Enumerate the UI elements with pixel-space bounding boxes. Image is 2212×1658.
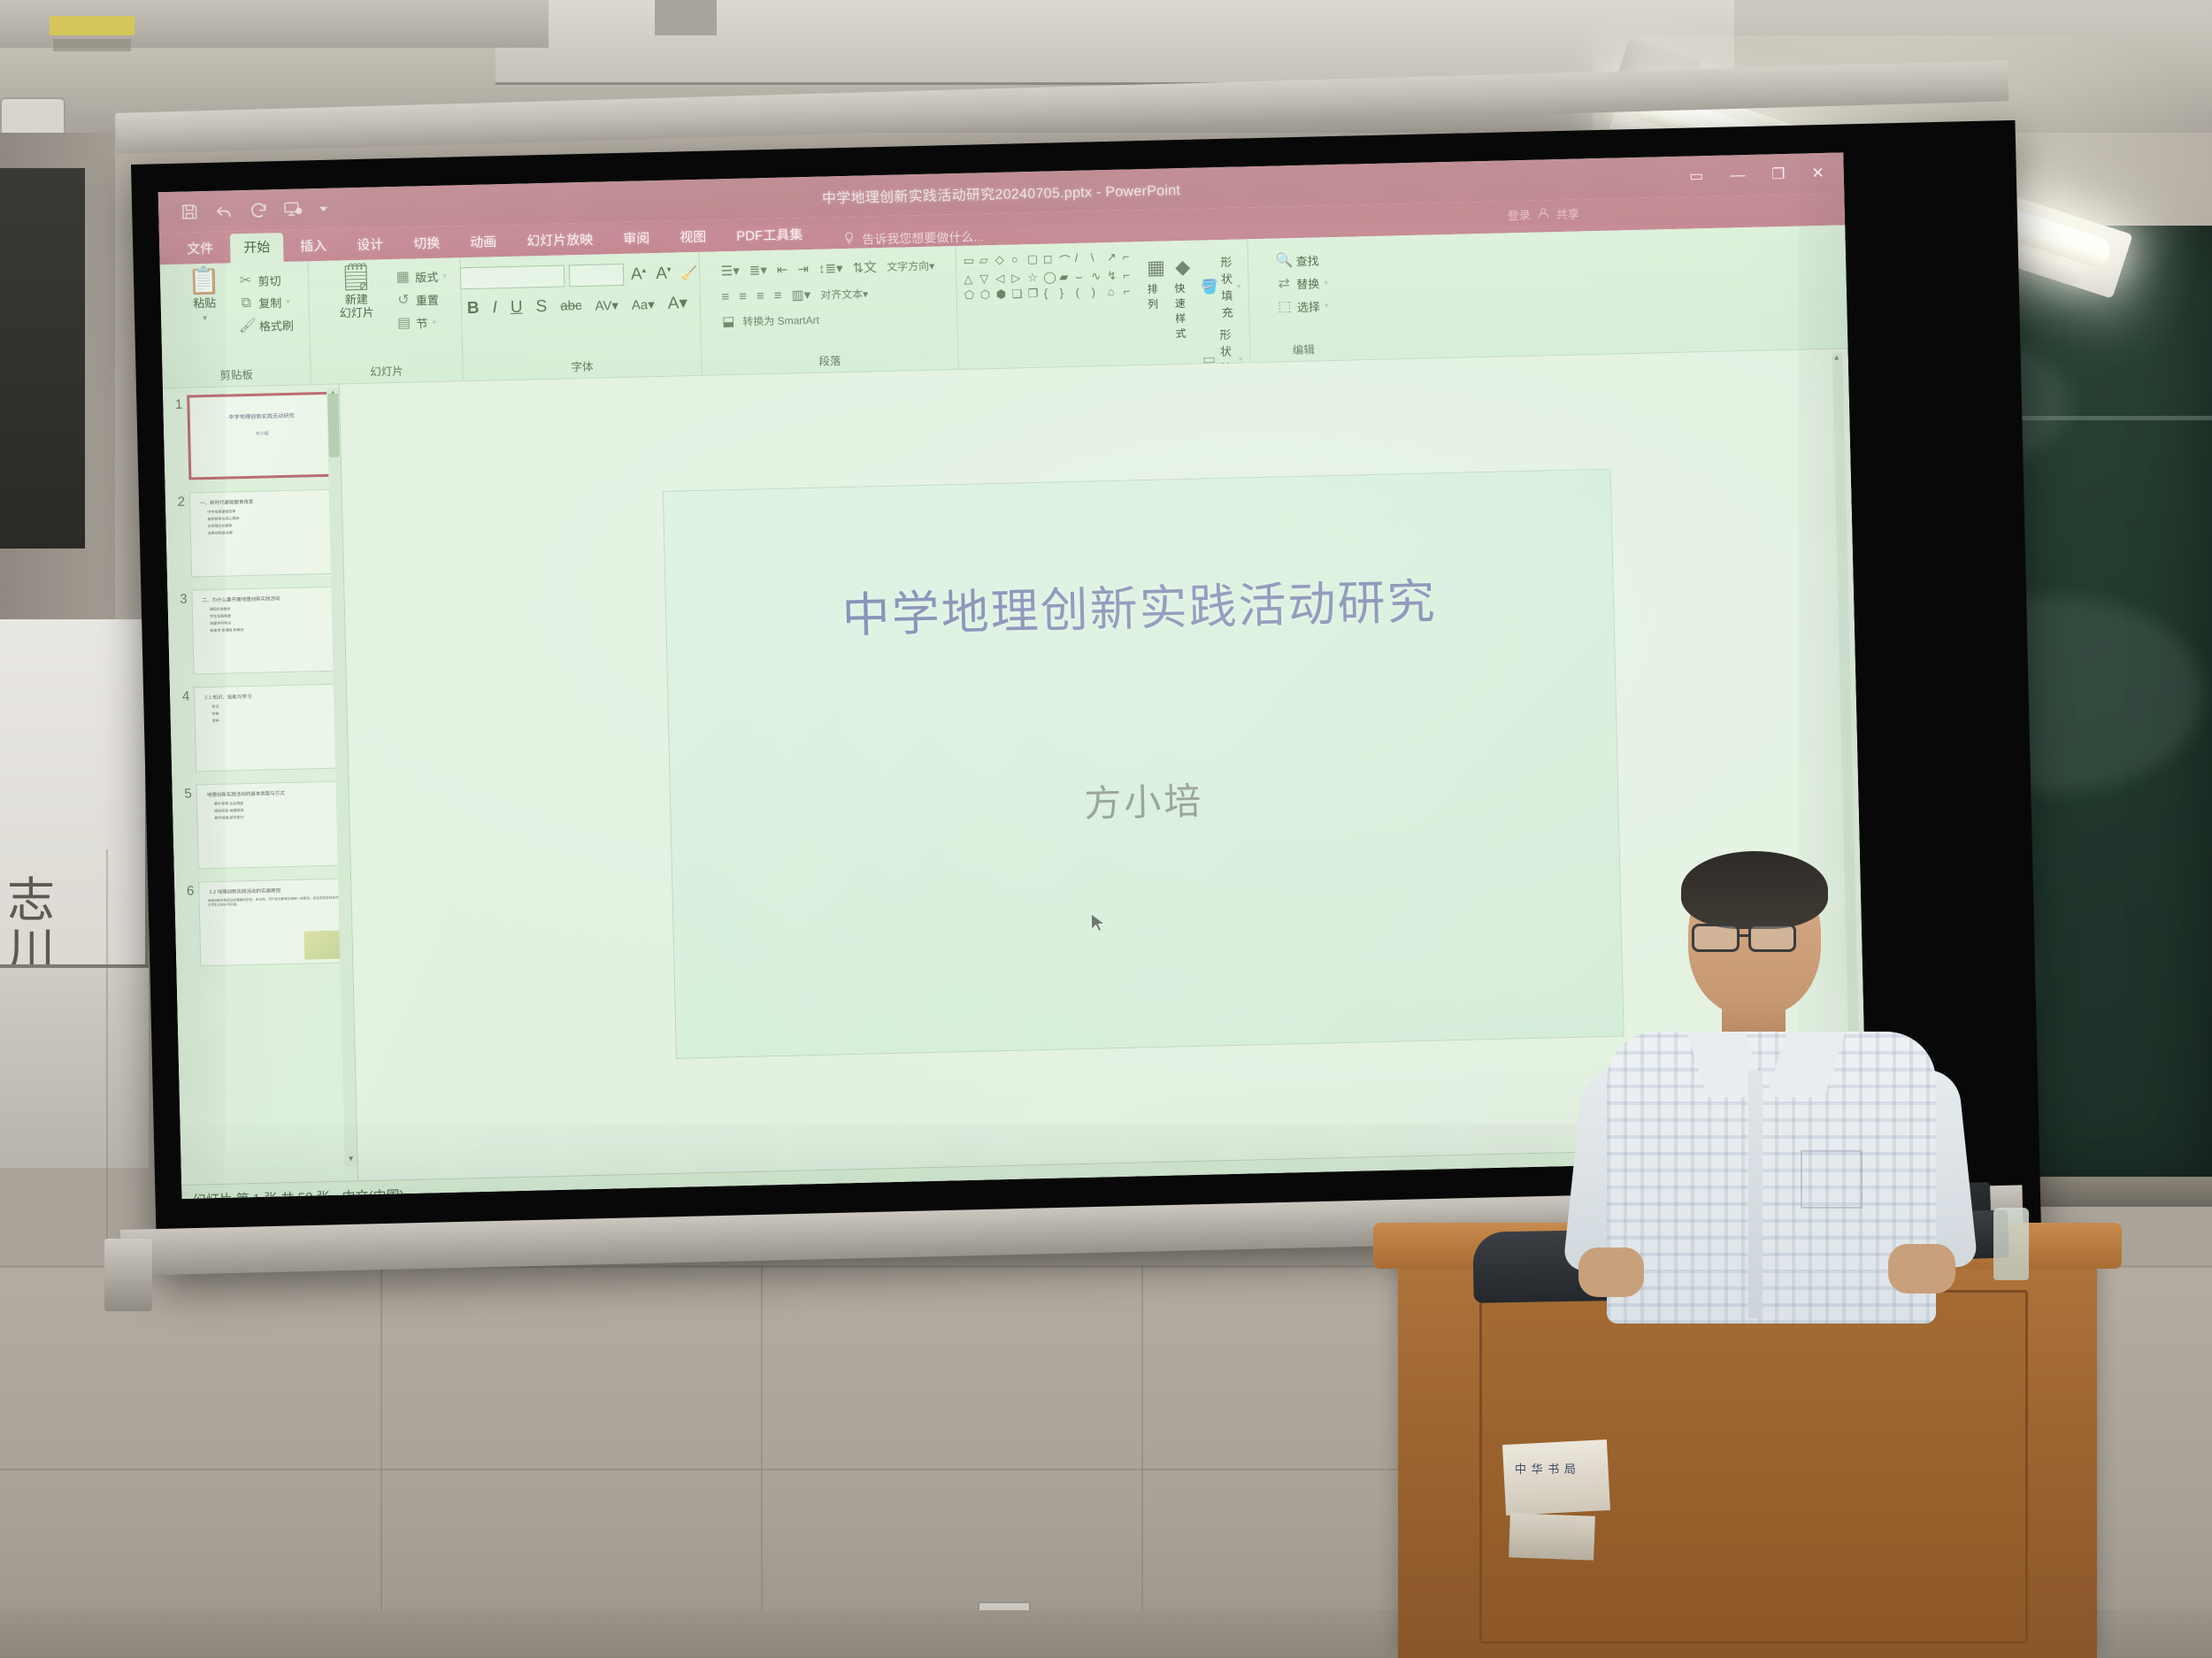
shirt-placket (1748, 1071, 1763, 1318)
new-slide-button[interactable]: 🗒 新建 幻灯片 (322, 264, 390, 321)
thumbnail-heading: 二、为什么要开展地理创新实践活动 (203, 594, 335, 604)
select-label: 选择 (1297, 297, 1320, 315)
increase-font-size-icon[interactable]: A▴ (628, 265, 649, 285)
tile-seam (1141, 1265, 1143, 1658)
reset-icon: ↺ (396, 291, 411, 309)
chevron-down-icon[interactable]: ▾ (286, 297, 290, 307)
tile-seam (106, 849, 108, 1265)
underline-button[interactable]: U (508, 297, 526, 317)
increase-indent-icon[interactable]: ⇥ (795, 260, 810, 276)
align-text-label[interactable]: 对齐文本▾ (818, 286, 870, 302)
lectern-sticker-torn (1509, 1513, 1595, 1560)
copy-button[interactable]: ⧉ 复制 ▾ (238, 294, 293, 311)
thumbnail-line: 改革创新是关键 (208, 528, 334, 536)
thumbnail-slide-6[interactable]: 6 2.2 地理创新实践活动的实施原则 地理创新实践活动应遵循科学性、安全性、可… (180, 878, 349, 966)
thumbnail-preview: 2.1 知识、技能与学习 知识 技能 素养 (194, 684, 344, 772)
presenter-shirt (1607, 1032, 1936, 1324)
language-indicator[interactable]: 中文(中国) (342, 1186, 403, 1199)
chevron-down-icon[interactable] (318, 203, 329, 214)
lightbulb-icon (842, 232, 856, 248)
tab-home[interactable]: 开始 (230, 233, 284, 263)
presenter (1584, 858, 1955, 1318)
tab-pdf-tools[interactable]: PDF工具集 (723, 220, 817, 251)
presenter-hair (1681, 851, 1828, 929)
thumbnail-line: 数字地理 研学旅行 (214, 813, 340, 821)
presenter-right-hand (1888, 1244, 1955, 1293)
thumbnail-image (303, 931, 343, 960)
shapes-gallery[interactable]: ▭▱◇○▢◻⌒/\↗⌐ △▽◁▷☆◯▰⌣∿↯⌐ ⬠⬡⬢❏❐{}()⌂⌐ (964, 246, 1139, 303)
format-painter-button[interactable]: 🖌 格式刷 (239, 316, 294, 334)
font-name-box[interactable] (460, 265, 565, 289)
screen-left-clip (104, 1239, 152, 1311)
group-label-editing: 编辑 (1293, 341, 1316, 360)
thumbnail-number: 4 (175, 687, 191, 772)
font-color-icon[interactable]: A▾ (664, 293, 690, 314)
layout-label: 版式 (415, 267, 438, 285)
italic-button[interactable]: I (489, 298, 500, 318)
ribbon-group-slides: 🗒 新建 幻灯片 ▦ 版式 ▾ ↺ 重置 (309, 257, 464, 384)
quick-styles-label[interactable]: 快速样式 (1174, 280, 1193, 341)
chevron-down-icon[interactable]: ▾ (1325, 301, 1329, 311)
thumbnail-heading: 地理创新实践活动的基本类型与方式 (207, 788, 340, 799)
decrease-font-size-icon[interactable]: A▾ (653, 264, 674, 284)
reset-label: 重置 (416, 290, 439, 308)
chevron-down-icon[interactable]: ▾ (1237, 281, 1241, 291)
thumbnail-title: 中学地理创新实践活动研究 (195, 411, 329, 422)
shape-fill-icon: 🪣 (1201, 278, 1217, 296)
change-case-icon[interactable]: Aa▾ (629, 296, 657, 313)
scissors-icon: ✂ (237, 272, 253, 289)
arrange-icon[interactable]: ▦ (1147, 256, 1165, 279)
projector-mount (655, 0, 717, 35)
format-painter-icon: 🖌 (239, 317, 255, 334)
tab-slideshow[interactable]: 幻灯片放映 (513, 225, 607, 256)
restore-button[interactable]: ❐ (1771, 165, 1786, 183)
current-slide[interactable]: 中学地理创新实践活动研究 方小培 (663, 470, 1623, 1058)
paste-button[interactable]: 📋 粘贴 ▾ (175, 267, 233, 323)
slideshow-icon[interactable] (283, 199, 303, 219)
chevron-down-icon[interactable]: ▾ (1324, 278, 1328, 288)
minimize-button[interactable]: — (1730, 166, 1745, 184)
thumbnail-preview: 2.2 地理创新实践活动的实施原则 地理创新实践活动应遵循科学性、安全性、可行性… (198, 878, 349, 966)
cut-button[interactable]: ✂ 剪切 (237, 271, 292, 289)
thumbnail-preview: 一、新时代基础教育改革 中学地理课程改革 素质教育与核心素养 办学理念的更新 改… (189, 489, 340, 578)
thumbnail-heading: 2.1 知识、技能与学习 (204, 691, 337, 702)
glasses-right-lens (1748, 924, 1796, 952)
thumbnail-slide-2[interactable]: 2 一、新时代基础教育改革 中学地理课程改革 素质教育与核心素养 办学理念的更新… (171, 489, 340, 578)
ribbon-display-options-icon[interactable]: ▭ (1689, 167, 1704, 185)
thumbnail-subtitle: 方小培 (195, 429, 329, 439)
decrease-indent-icon[interactable]: ⇤ (775, 261, 790, 277)
window-controls: ▭ — ❐ ✕ (1689, 165, 1833, 186)
character-spacing-icon[interactable]: AV▾ (592, 296, 621, 313)
paste-label: 粘贴 (193, 297, 216, 311)
redo-icon[interactable] (249, 200, 269, 220)
group-label-clipboard: 剪贴板 (219, 365, 253, 385)
thumbnail-preview: 地理创新实践活动的基本类型与方式 野外考察 社会调查 模拟实验 地理观测 数字地… (196, 781, 347, 870)
layout-icon: ▦ (395, 268, 411, 286)
tab-design[interactable]: 设计 (343, 230, 397, 260)
smartart-icon[interactable]: ⬓ (720, 313, 737, 329)
select-icon: ⬚ (1277, 297, 1293, 315)
water-bottle (1993, 1208, 2029, 1280)
text-direction-icon[interactable]: ⇅文 (850, 257, 879, 277)
arrange-label[interactable]: 排列 (1147, 280, 1166, 311)
whiteboard-writing: 志川 (7, 876, 87, 976)
thumbnail-number: 6 (180, 882, 196, 967)
thumbnail-heading: 一、新时代基础教育改革 (200, 496, 333, 507)
thumbnail-preview: 中学地理创新实践活动研究 方小培 (187, 392, 337, 480)
glasses-bridge (1740, 934, 1750, 937)
glasses-left-lens (1692, 924, 1740, 952)
tab-insert[interactable]: 插入 (287, 231, 341, 261)
chevron-down-icon[interactable]: ▾ (442, 271, 447, 280)
shape-fill-button[interactable]: 🪣 形状填充 ▾ (1200, 252, 1241, 320)
group-label-font: 字体 (571, 357, 594, 377)
ceiling-yellow-label (50, 16, 134, 35)
layout-button[interactable]: ▦ 版式 ▾ (395, 267, 447, 286)
ceiling-gray-label (53, 39, 131, 51)
whiteboard-lower-frame (0, 964, 149, 1168)
undo-icon[interactable] (214, 201, 234, 221)
ribbon-group-paragraph: ☰▾ ≣▾ ⇤ ⇥ ↕≣▾ ⇅文 文字方向▾ ≡ ≡ ≡ ≡ (700, 246, 959, 375)
section-button[interactable]: ▤ 节 ▾ (396, 313, 448, 332)
share-label[interactable]: 共享 (1556, 204, 1579, 222)
scrollbar-thumb[interactable] (327, 394, 340, 457)
ribbon-group-editing: 🔍 查找 ⇄ 替换 ▾ ⬚ 选择 ▾ (1248, 236, 1356, 362)
signin-label[interactable]: 登录 (1508, 206, 1531, 224)
align-left-icon[interactable]: ≡ (719, 289, 731, 304)
close-button[interactable]: ✕ (1811, 165, 1824, 182)
scroll-up-arrow[interactable]: ▴ (1832, 353, 1842, 365)
quick-styles-icon[interactable]: ◆ (1175, 256, 1191, 279)
text-direction-label[interactable]: 文字方向▾ (885, 258, 936, 274)
strikethrough-button[interactable]: abc (557, 298, 585, 314)
shirt-pocket (1801, 1150, 1863, 1209)
cut-label: 剪切 (257, 272, 280, 289)
clear-formatting-icon[interactable]: 🧹 (678, 265, 700, 281)
format-painter-label: 格式刷 (259, 316, 294, 334)
classroom-scene: 志川 (0, 0, 2212, 1658)
account-icon[interactable] (1537, 206, 1550, 222)
shape-fill-label: 形状填充 (1220, 253, 1233, 320)
tile-seam (380, 1265, 382, 1658)
left-dark-column (0, 168, 85, 549)
thumbnail-slide-1[interactable]: 1 中学地理创新实践活动研究 方小培 (168, 392, 337, 480)
shadow-button[interactable]: S (533, 296, 549, 316)
columns-icon[interactable]: ▥▾ (789, 287, 812, 303)
signin-area[interactable]: 登录 共享 (1508, 204, 1579, 223)
numbering-icon[interactable]: ≣▾ (748, 262, 770, 279)
new-slide-icon: 🗒 (339, 265, 373, 292)
justify-icon[interactable]: ≡ (772, 288, 784, 303)
thumbnail-number: 2 (171, 493, 187, 578)
thumbnail-heading: 2.2 地理创新实践活动的实施原则 (209, 886, 342, 896)
quick-access-toolbar (169, 199, 329, 222)
thumbnail-preview: 二、为什么要开展地理创新实践活动 课程标准要求 学生发展需要 地理学科特点 新高… (191, 587, 342, 675)
lectern-sticker-text: 中 华 书 局 (1515, 1460, 1577, 1477)
copy-icon: ⧉ (238, 295, 254, 311)
thumbnail-slide-5[interactable]: 5 地理创新实践活动的基本类型与方式 野外考察 社会调查 模拟实验 地理观测 数… (178, 781, 347, 870)
paste-icon: 📋 (188, 268, 221, 296)
lectern-sticker (1502, 1439, 1610, 1516)
new-slide-label: 新建 幻灯片 (339, 294, 374, 321)
thumbnail-line: 新高考 新课程 新教材 (210, 626, 335, 633)
align-right-icon[interactable]: ≡ (755, 288, 766, 303)
copy-label: 复制 (258, 294, 281, 311)
align-center-icon[interactable]: ≡ (737, 288, 749, 303)
bold-button[interactable]: B (465, 298, 482, 318)
group-label-slides: 幻灯片 (370, 362, 403, 381)
thumbnail-number: 5 (178, 785, 194, 870)
slide-counter: 幻灯片 第 1 张,共 58 张 (192, 1187, 329, 1199)
chevron-down-icon[interactable]: ▾ (203, 313, 207, 323)
slide-thumbnail-pane[interactable]: 1 中学地理创新实践活动研究 方小培 2 一、新时代基础教育改革 中学地理课程改… (163, 385, 358, 1185)
tile-seam (761, 1265, 763, 1658)
group-label-paragraph: 段落 (818, 351, 841, 371)
line-spacing-icon[interactable]: ↕≣▾ (817, 260, 845, 277)
find-button[interactable]: 🔍 查找 (1275, 250, 1327, 269)
thumbnail-number: 1 (168, 395, 184, 480)
thumbnail-slide-3[interactable]: 3 二、为什么要开展地理创新实践活动 课程标准要求 学生发展需要 地理学科特点 … (173, 587, 342, 675)
tab-transitions[interactable]: 切换 (400, 228, 454, 258)
replace-button[interactable]: ⇄ 替换 ▾ (1276, 273, 1328, 292)
tab-view[interactable]: 视图 (666, 222, 720, 252)
arrow-cursor (1089, 912, 1108, 938)
chevron-down-icon[interactable]: ▾ (1239, 354, 1243, 364)
convert-to-smartart-label[interactable]: 转换为 SmartArt (741, 311, 821, 328)
font-size-box[interactable] (569, 264, 625, 287)
thumbnail-slide-4[interactable]: 4 2.1 知识、技能与学习 知识 技能 素养 (175, 684, 344, 772)
thumbnail-number: 3 (173, 590, 188, 675)
section-label: 节 (416, 314, 427, 331)
ribbon-group-drawing: ▭▱◇○▢◻⌒/\↗⌐ △▽◁▷☆◯▰⌣∿↯⌐ ⬠⬡⬢❏❐{}()⌂⌐ ▦ 排列… (956, 239, 1250, 369)
slide-subtitle[interactable]: 方小培 (670, 762, 1617, 838)
tab-animations[interactable]: 动画 (457, 227, 511, 257)
scroll-down-arrow[interactable]: ▾ (345, 1154, 356, 1166)
replace-label: 替换 (1296, 274, 1319, 292)
search-icon: 🔍 (1275, 251, 1291, 269)
save-icon[interactable] (180, 202, 200, 222)
tile-seam (0, 1469, 1398, 1470)
section-icon: ▤ (396, 314, 411, 332)
thumbnail-line: 素养 (212, 716, 338, 724)
tab-review[interactable]: 审阅 (610, 224, 664, 254)
chevron-down-icon[interactable]: ▾ (432, 317, 436, 326)
presenter-left-hand (1578, 1247, 1644, 1297)
slide-title[interactable]: 中学地理创新实践活动研究 (665, 558, 1614, 650)
ribbon-group-clipboard: 📋 粘贴 ▾ ✂ 剪切 ⧉ 复制 ▾ (160, 261, 311, 388)
select-button[interactable]: ⬚ 选择 ▾ (1277, 296, 1329, 315)
reset-button[interactable]: ↺ 重置 (396, 290, 448, 309)
thumbnail-paragraph: 地理创新实践活动应遵循科学性、安全性、可行性与教育性相统一的原则，结合学校实际条… (208, 896, 339, 909)
find-label: 查找 (1295, 251, 1318, 269)
replace-icon: ⇄ (1276, 274, 1292, 292)
bullets-icon[interactable]: ☰▾ (719, 262, 741, 279)
ribbon-group-font: A▴ A▾ 🧹 B I U S abc AV▾ Aa▾ A▾ (461, 252, 703, 380)
tab-file[interactable]: 文件 (173, 234, 227, 264)
